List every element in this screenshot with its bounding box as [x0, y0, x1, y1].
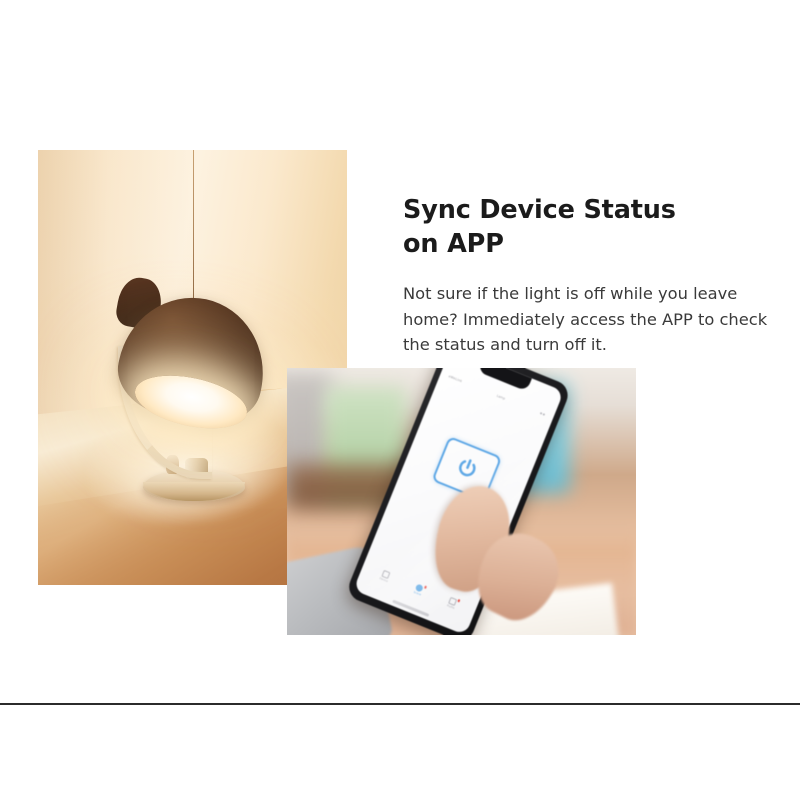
phone-in-hand-photo: eWeLink Lamp [287, 368, 636, 635]
tab-device[interactable]: Device [379, 569, 391, 583]
add-device-icon[interactable] [542, 413, 545, 416]
app-screen-title: Lamp [496, 394, 505, 401]
headline-line-1: Sync Device Status [403, 195, 676, 225]
profile-badge [457, 599, 460, 602]
power-icon[interactable] [451, 453, 482, 485]
tab-scene[interactable]: Scene [413, 583, 424, 596]
headline-line-2: on APP [403, 229, 504, 259]
scene-badge [423, 585, 426, 588]
tab-profile[interactable]: Profile [446, 597, 458, 610]
app-brand-label: eWeLink [448, 374, 463, 383]
page-title: Sync Device Status on APP [403, 194, 775, 261]
more-options-icon[interactable] [539, 412, 542, 415]
text-column: Sync Device Status on APP Not sure if th… [403, 194, 775, 358]
body-paragraph: Not sure if the light is off while you l… [403, 281, 775, 357]
bottom-divider [0, 703, 800, 705]
app-toolbar-icons[interactable] [539, 412, 545, 416]
page-canvas: eWeLink Lamp [0, 0, 800, 800]
